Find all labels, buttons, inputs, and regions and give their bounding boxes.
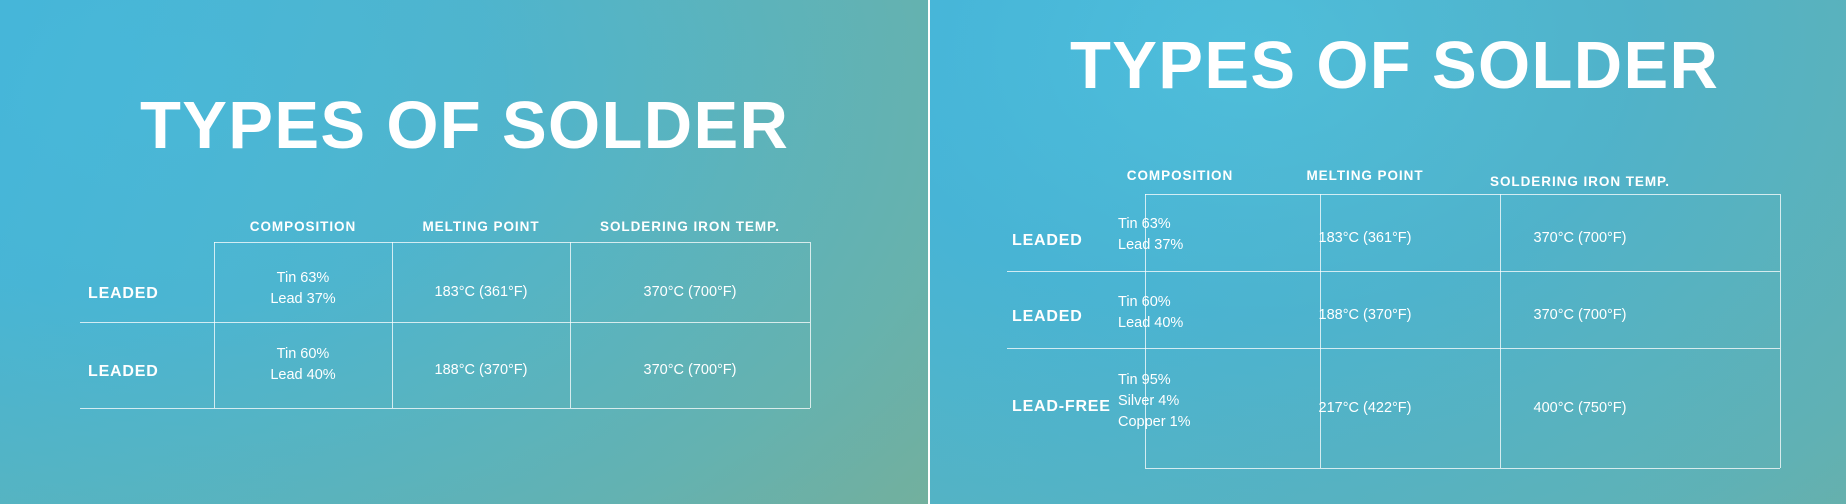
right-panel: [928, 0, 1846, 504]
row-label-leaded-2-left: LEADED: [88, 363, 159, 381]
cell-melting-point-row1-left: 183°C (361°F): [392, 282, 570, 303]
cell-soldering-iron-temp-row2-left: 370°C (700°F): [570, 360, 810, 381]
right-panel-content: [928, 0, 1846, 504]
column-header-melting-point-left: MELTING POINT: [392, 219, 570, 234]
cell-soldering-iron-temp-row1-left: 370°C (700°F): [570, 282, 810, 303]
table-rule-v3-left: [570, 242, 571, 408]
column-header-composition-left: COMPOSITION: [214, 219, 392, 234]
table-rule-mid-left: [80, 322, 810, 323]
table-rule-v4-left: [810, 242, 811, 408]
comparison-canvas: TYPES OF SOLDER COMPOSITION MELTING POIN…: [0, 0, 1846, 504]
table-rule-bottom-left: [80, 408, 810, 409]
left-panel-content: TYPES OF SOLDER COMPOSITION MELTING POIN…: [0, 0, 928, 504]
panel-divider: [928, 0, 930, 504]
page-title-left: TYPES OF SOLDER: [140, 92, 789, 159]
cell-melting-point-row2-left: 188°C (370°F): [392, 360, 570, 381]
table-rule-v2-left: [392, 242, 393, 408]
row-label-leaded-1-left: LEADED: [88, 285, 159, 303]
table-rule-top-left: [214, 242, 810, 243]
cell-composition-row1-left: Tin 63% Lead 37%: [214, 268, 392, 310]
left-panel: TYPES OF SOLDER COMPOSITION MELTING POIN…: [0, 0, 928, 504]
column-header-soldering-iron-temp-left: SOLDERING IRON TEMP.: [570, 219, 810, 234]
cell-composition-row2-left: Tin 60% Lead 40%: [214, 344, 392, 386]
